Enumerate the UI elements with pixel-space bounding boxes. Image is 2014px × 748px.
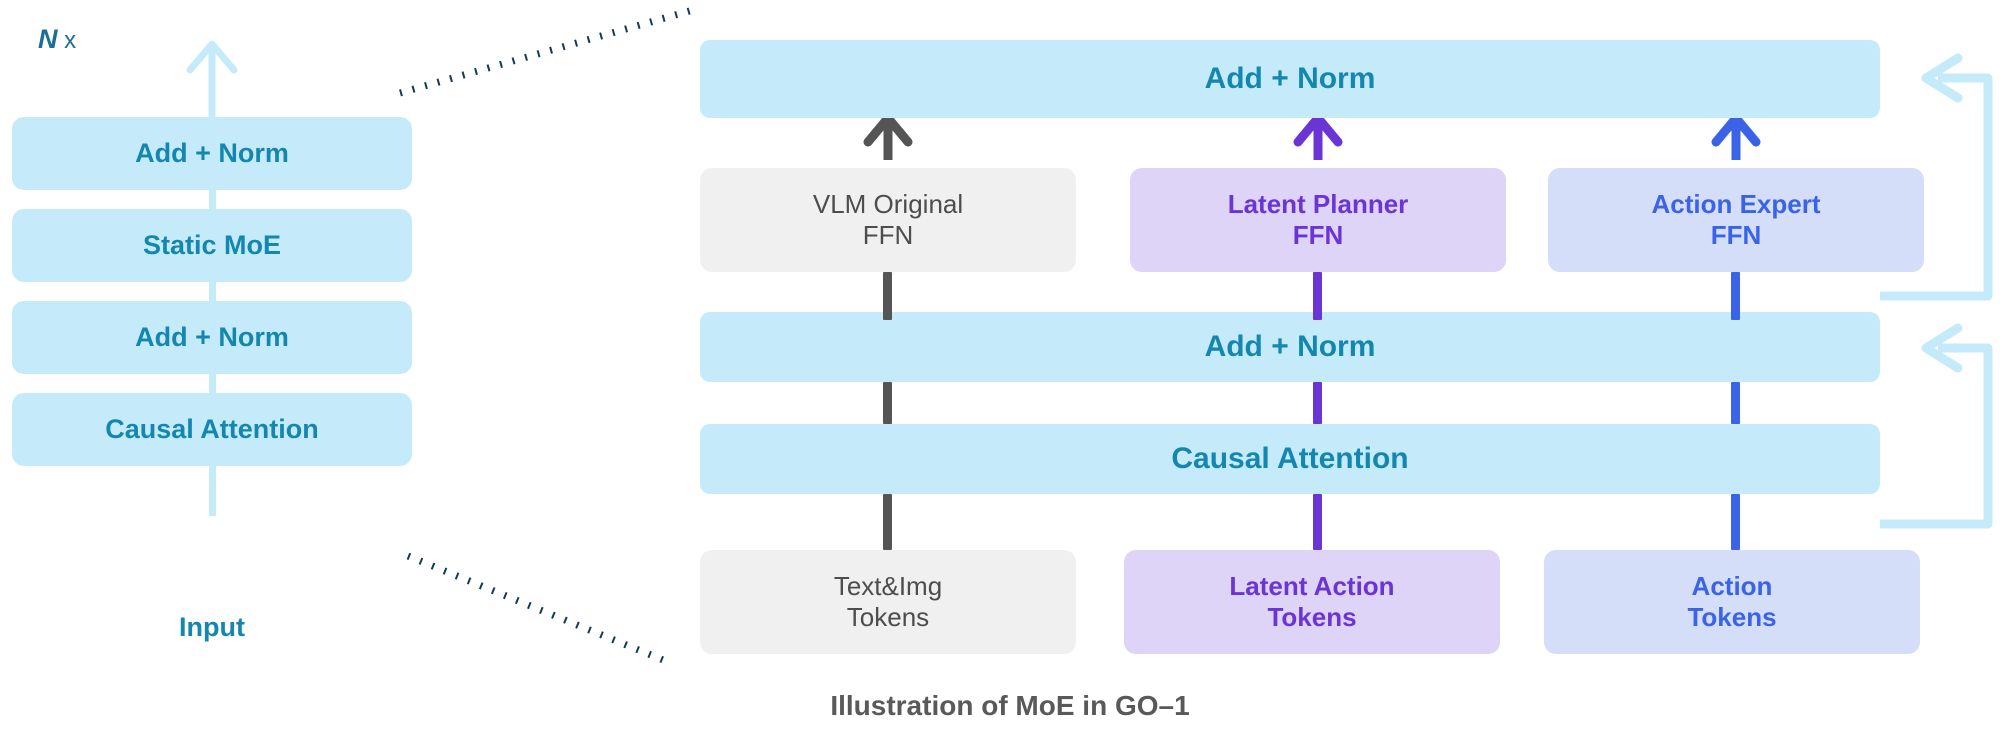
- token-box-latent-action[interactable]: Latent Action Tokens: [1124, 550, 1500, 654]
- left-block-add-norm-top[interactable]: Add + Norm: [12, 117, 412, 190]
- left-block-causal-attention[interactable]: Causal Attention: [12, 393, 412, 466]
- ffn-vlm-line1: VLM Original: [813, 189, 963, 220]
- stem-action-to-attention: [1731, 494, 1740, 550]
- left-input-label: Input: [12, 612, 412, 643]
- repeat-count-x: x: [58, 27, 77, 54]
- diagram-canvas: N x Add + Norm Static MoE Add + Norm Cau…: [0, 0, 2014, 748]
- ffn-latent-planner-line2: FFN: [1228, 220, 1409, 251]
- left-spine-4: [209, 466, 216, 516]
- token-action-line2: Tokens: [1687, 602, 1776, 633]
- ffn-vlm-line2: FFN: [813, 220, 963, 251]
- token-box-text-img[interactable]: Text&Img Tokens: [700, 550, 1076, 654]
- ffn-box-action-expert[interactable]: Action Expert FFN: [1548, 168, 1924, 272]
- arrow-vlm-to-addnorm: [868, 118, 908, 160]
- stem-midnorm-to-vlm-ffn: [883, 272, 892, 320]
- dotted-guide-top: [400, 8, 700, 93]
- arrow-latent-planner-to-addnorm: [1298, 118, 1338, 160]
- right-top-add-norm[interactable]: Add + Norm: [700, 40, 1880, 118]
- stem-attention-to-midnorm-grey: [883, 382, 892, 424]
- repeat-count-label: N x: [38, 24, 76, 55]
- token-box-action[interactable]: Action Tokens: [1544, 550, 1920, 654]
- right-causal-attention[interactable]: Causal Attention: [700, 424, 1880, 494]
- residual-loop-lower: [1880, 328, 1988, 524]
- ffn-box-vlm-original[interactable]: VLM Original FFN: [700, 168, 1076, 272]
- stem-text-img-to-attention: [883, 494, 892, 550]
- token-latent-action-line2: Tokens: [1229, 602, 1394, 633]
- ffn-action-expert-line2: FFN: [1651, 220, 1820, 251]
- stem-attention-to-midnorm-purple: [1313, 382, 1322, 424]
- repeat-count-n: N: [38, 24, 58, 54]
- stem-midnorm-to-latent-planner-ffn: [1313, 272, 1322, 320]
- token-text-img-line2: Tokens: [834, 602, 942, 633]
- left-block-static-moe[interactable]: Static MoE: [12, 209, 412, 282]
- token-text-img-line1: Text&Img: [834, 571, 942, 602]
- arrow-action-expert-to-addnorm: [1716, 118, 1756, 160]
- ffn-action-expert-line1: Action Expert: [1651, 189, 1820, 220]
- right-mid-add-norm[interactable]: Add + Norm: [700, 312, 1880, 382]
- ffn-latent-planner-line1: Latent Planner: [1228, 189, 1409, 220]
- token-action-line1: Action: [1687, 571, 1776, 602]
- figure-caption: Illustration of MoE in GO–1: [560, 690, 1460, 722]
- dotted-guide-bottom: [408, 556, 668, 662]
- token-latent-action-line1: Latent Action: [1229, 571, 1394, 602]
- stem-midnorm-to-action-expert-ffn: [1731, 272, 1740, 320]
- stem-latent-action-to-attention: [1313, 494, 1322, 550]
- stem-attention-to-midnorm-blue: [1731, 382, 1740, 424]
- left-block-add-norm-bottom[interactable]: Add + Norm: [12, 301, 412, 374]
- ffn-box-latent-planner[interactable]: Latent Planner FFN: [1130, 168, 1506, 272]
- left-output-arrow: [190, 44, 234, 118]
